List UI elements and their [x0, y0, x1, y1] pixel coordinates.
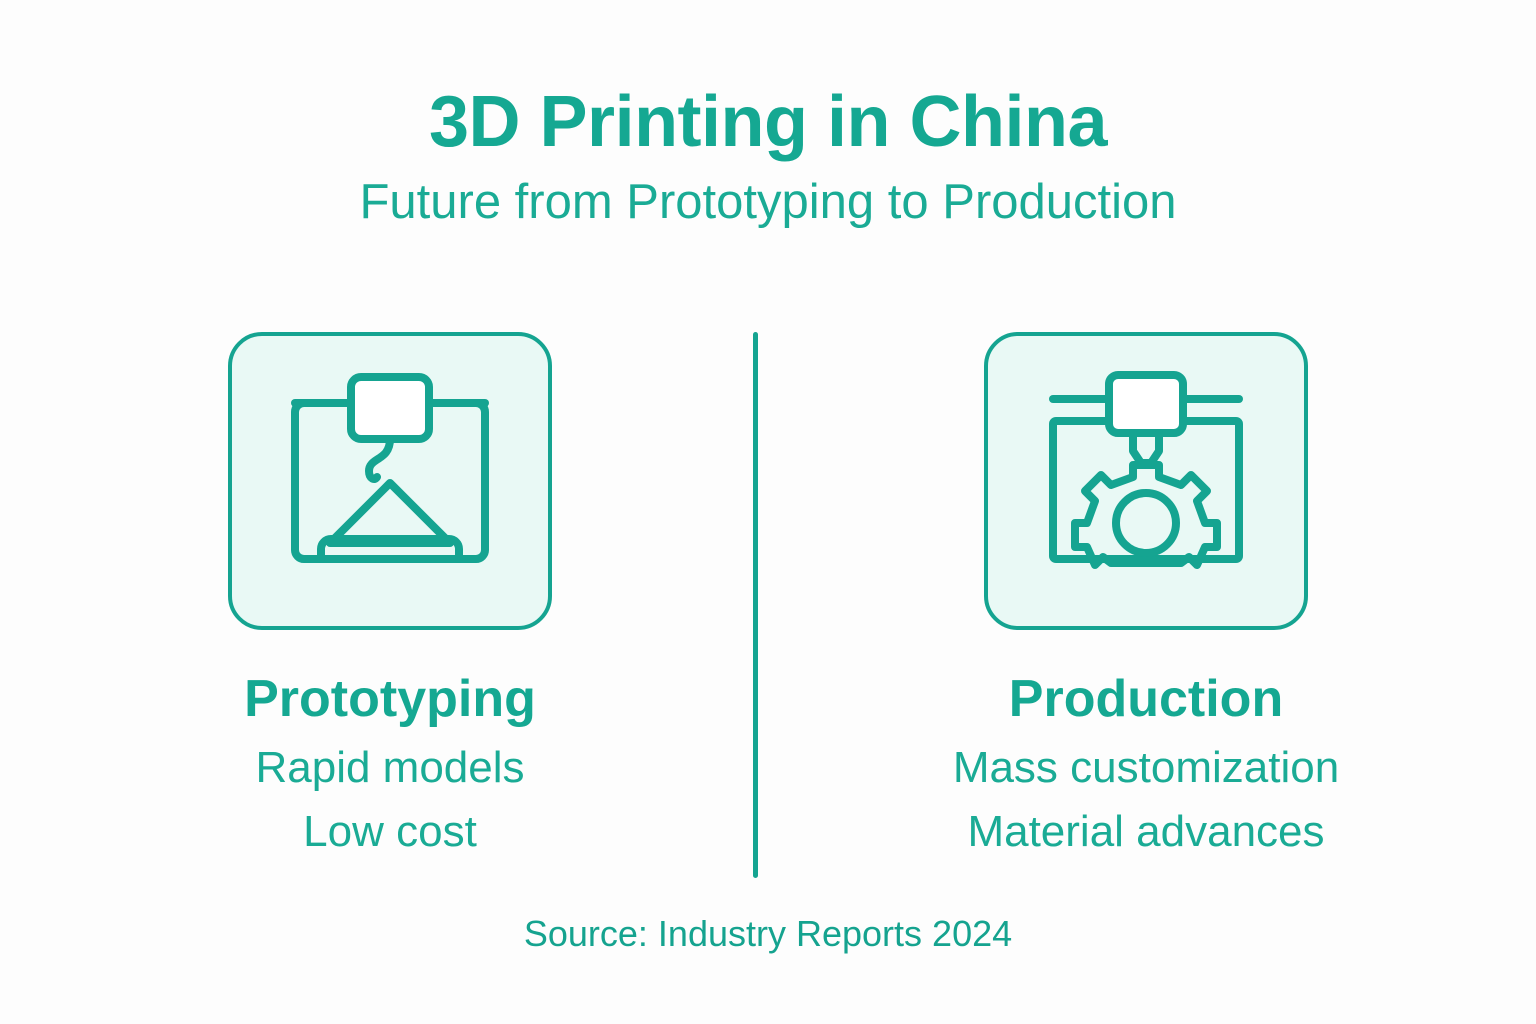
page-title: 3D Printing in China [0, 84, 1536, 160]
3d-printer-prototype-icon [265, 365, 515, 597]
header: 3D Printing in China Future from Prototy… [0, 84, 1536, 230]
list-item: Material advances [953, 800, 1339, 864]
prototyping-icon-card [228, 332, 552, 630]
list-item: Rapid models [255, 736, 524, 800]
column-lines-prototyping: Rapid models Low cost [255, 736, 524, 864]
column-title-production: Production [1009, 670, 1283, 730]
infographic-poster: 3D Printing in China Future from Prototy… [0, 0, 1536, 1024]
production-icon-card [984, 332, 1308, 630]
page-subtitle: Future from Prototyping to Production [0, 176, 1536, 230]
list-item: Mass customization [953, 736, 1339, 800]
column-title-prototyping: Prototyping [244, 670, 536, 730]
comparison-columns: Prototyping Rapid models Low cost [0, 332, 1536, 892]
3d-printer-gear-production-icon [1021, 365, 1271, 597]
source-note: Source: Industry Reports 2024 [0, 913, 1536, 955]
column-lines-production: Mass customization Material advances [953, 736, 1339, 864]
column-prototyping: Prototyping Rapid models Low cost [40, 332, 768, 864]
column-production: Production Mass customization Material a… [768, 332, 1496, 864]
list-item: Low cost [255, 800, 524, 864]
